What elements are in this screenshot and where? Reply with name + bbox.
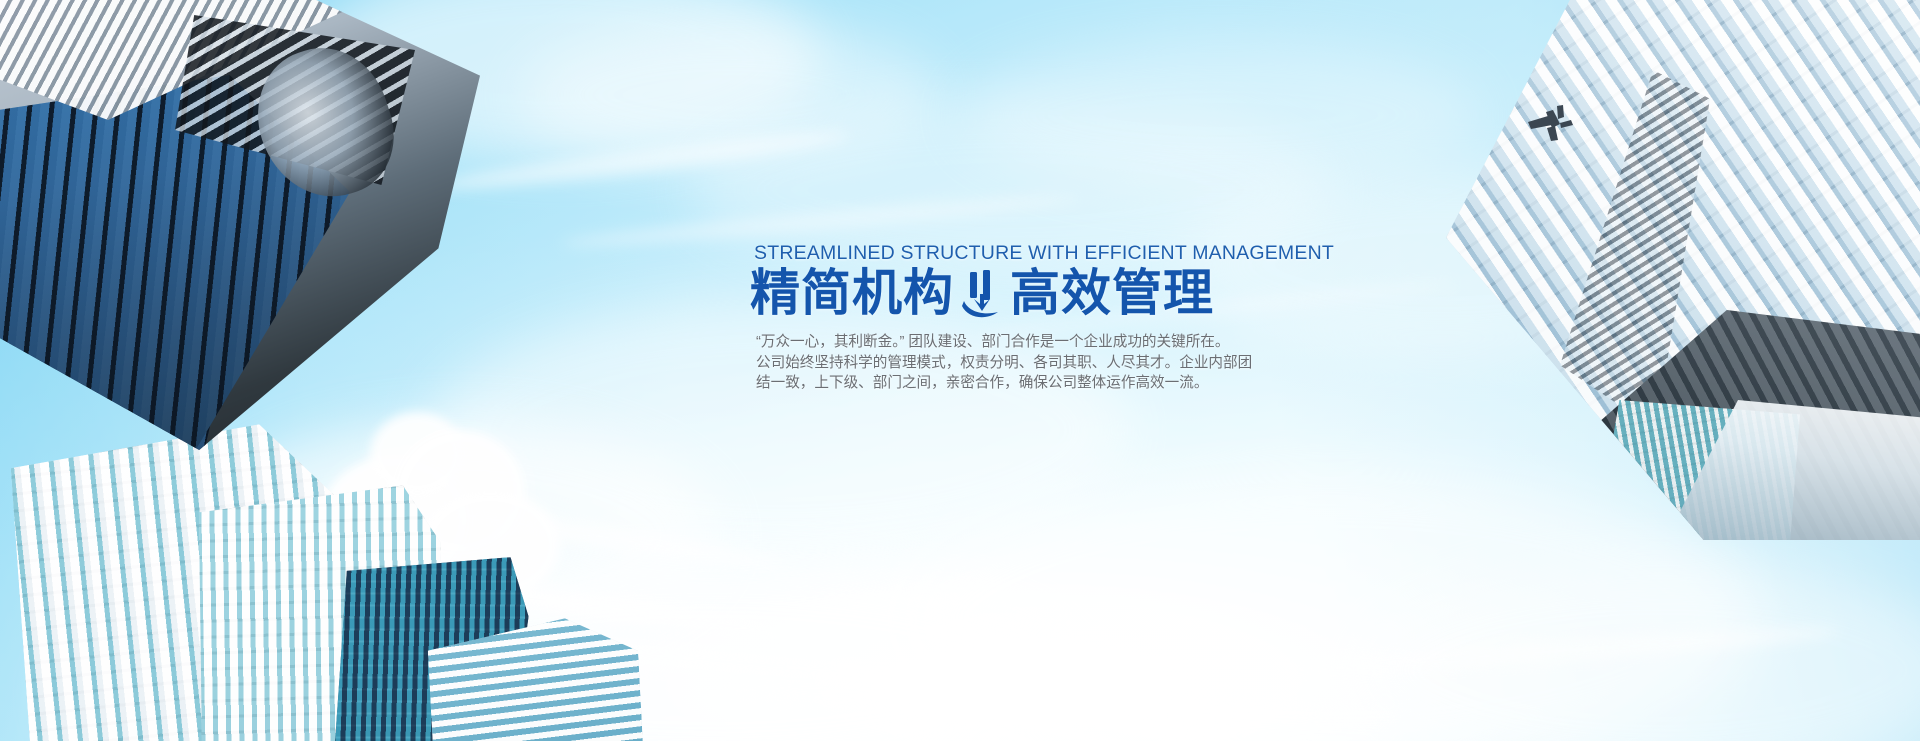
body-line: “万众一心，其利断金。” 团队建设、部门合作是一个企业成功的关键所在。: [756, 332, 1280, 353]
body-line: 结一致，上下级、部门之间，亲密合作，确保公司整体运作高效一流。: [756, 373, 1280, 394]
headline-chinese-left: 精简机构: [750, 267, 954, 320]
headline-chinese-row: 精简机构 高效管理: [750, 267, 1280, 320]
banner-copy: STREAMLINED STRUCTURE WITH EFFICIENT MAN…: [750, 242, 1280, 394]
headline-english: STREAMLINED STRUCTURE WITH EFFICIENT MAN…: [754, 242, 1280, 265]
airplane-icon: [1516, 98, 1586, 150]
body-line: 公司始终坚持科学的管理模式，权责分明、各司其职、人尽其才。企业内部团: [756, 353, 1280, 374]
banner-body-copy: “万众一心，其利断金。” 团队建设、部门合作是一个企业成功的关键所在。 公司始终…: [756, 332, 1280, 394]
headline-chinese-right: 高效管理: [1010, 267, 1214, 320]
hero-banner: STREAMLINED STRUCTURE WITH EFFICIENT MAN…: [0, 0, 1920, 741]
company-swoosh-mark-icon: [960, 268, 1004, 320]
cloud: [960, 40, 1480, 190]
